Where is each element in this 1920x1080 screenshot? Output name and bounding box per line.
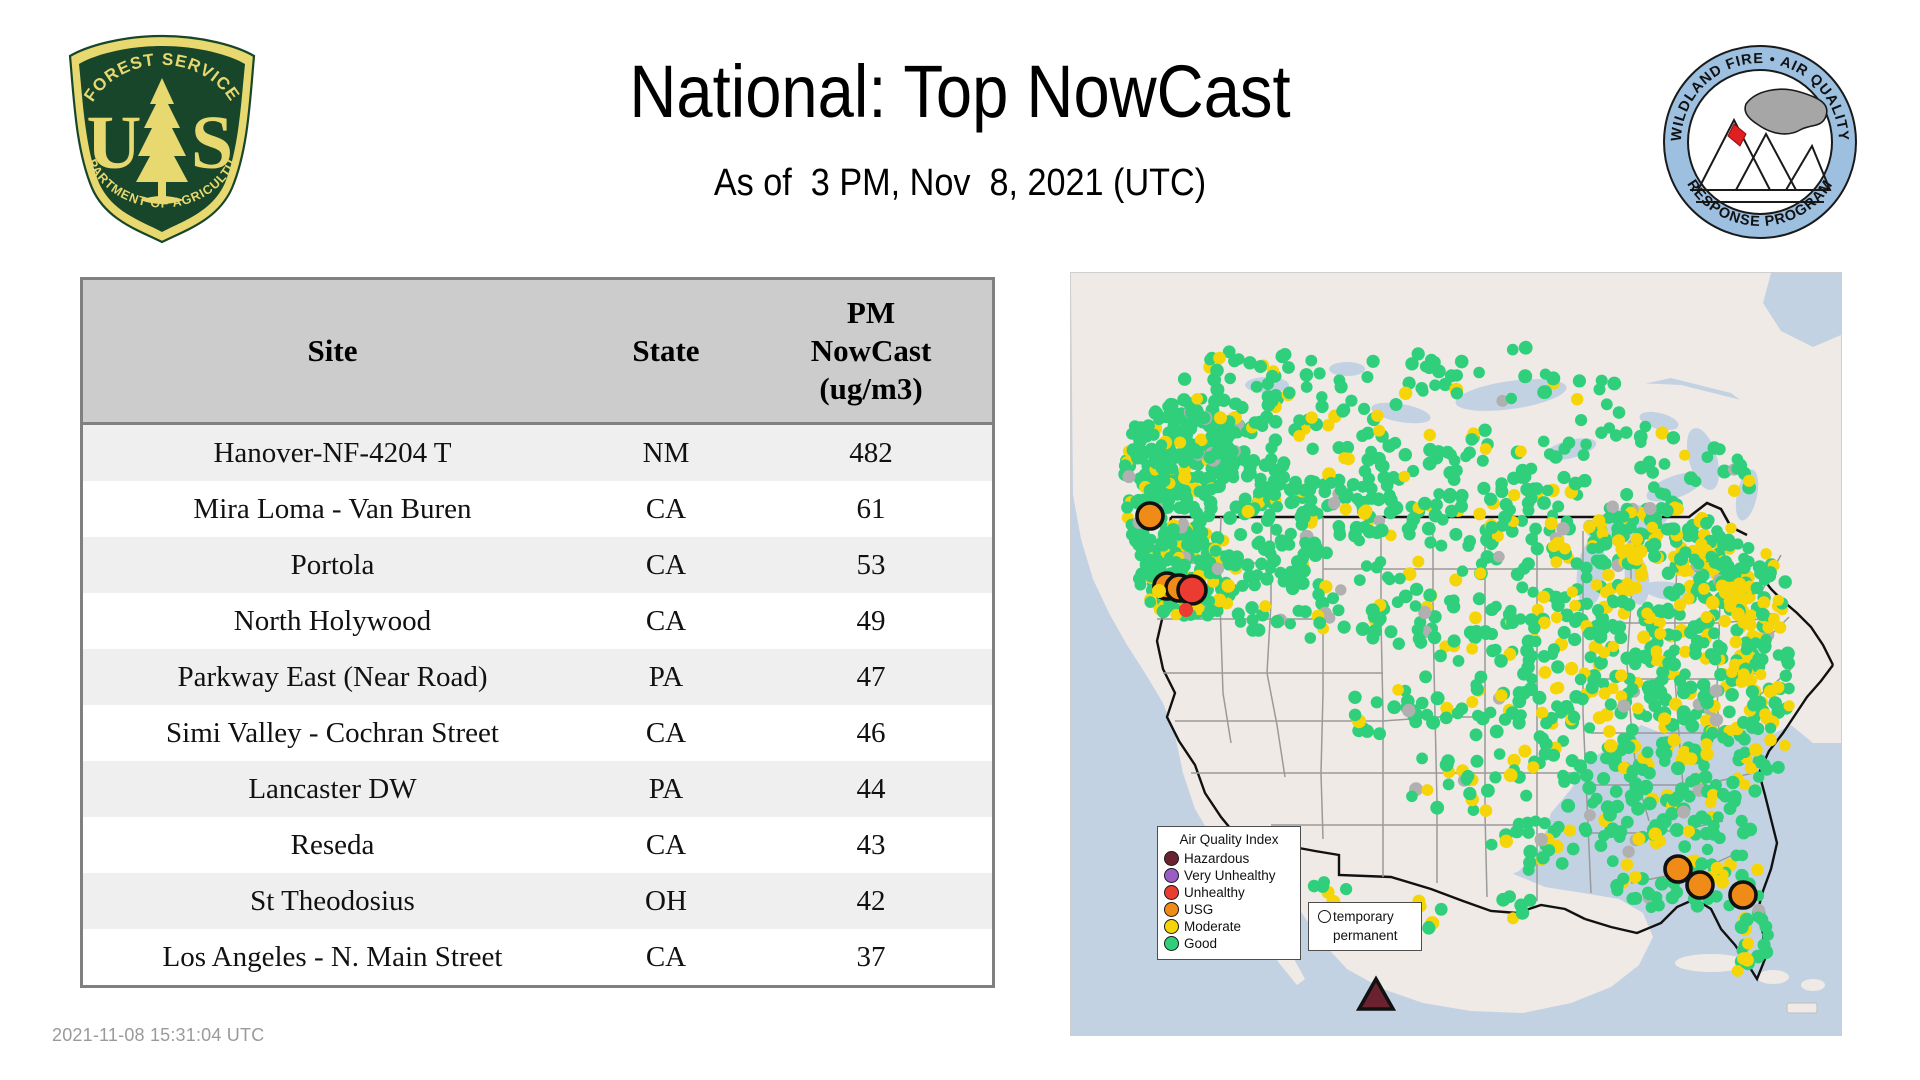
station-dot[interactable] — [1348, 691, 1361, 704]
station-dot[interactable] — [1477, 455, 1489, 467]
station-dot[interactable] — [1316, 400, 1329, 413]
station-dot[interactable] — [1700, 517, 1713, 530]
station-dot[interactable] — [1522, 557, 1535, 570]
station-dot[interactable] — [1285, 528, 1297, 540]
station-dot[interactable] — [1232, 607, 1245, 620]
station-dot[interactable] — [1394, 573, 1406, 585]
station-dot[interactable] — [1659, 488, 1671, 500]
station-dot[interactable] — [1734, 749, 1745, 760]
station-dot[interactable] — [1484, 493, 1497, 506]
station-dot[interactable] — [1523, 845, 1537, 859]
station-dot[interactable] — [1539, 747, 1552, 760]
station-dot[interactable] — [1194, 471, 1205, 482]
station-dot[interactable] — [1564, 825, 1576, 837]
station-dot[interactable] — [1742, 938, 1754, 950]
station-dot[interactable] — [1282, 361, 1295, 374]
station-dot[interactable] — [1716, 876, 1729, 889]
station-dot[interactable] — [1468, 804, 1480, 816]
station-dot[interactable] — [1310, 542, 1323, 555]
station-dot[interactable] — [1213, 352, 1226, 365]
station-dot[interactable] — [1677, 705, 1691, 719]
station-dot[interactable] — [1258, 542, 1272, 556]
station-dot[interactable] — [1678, 840, 1691, 853]
station-dot[interactable] — [1728, 484, 1741, 497]
station-dot[interactable] — [1354, 535, 1365, 546]
station-dot[interactable] — [1741, 644, 1753, 656]
station-dot[interactable] — [1617, 873, 1629, 885]
station-dot[interactable] — [1305, 632, 1317, 644]
station-dot[interactable] — [1542, 485, 1554, 497]
station-dot[interactable] — [1714, 668, 1727, 681]
station-dot[interactable] — [1293, 430, 1305, 442]
station-dot[interactable] — [1202, 609, 1214, 621]
station-dot[interactable] — [1784, 700, 1795, 711]
station-dot[interactable] — [1181, 423, 1194, 436]
station-dot[interactable] — [1560, 700, 1574, 714]
station-dot[interactable] — [1594, 383, 1606, 395]
station-dot[interactable] — [1356, 430, 1368, 442]
station-dot[interactable] — [1504, 768, 1518, 782]
station-dot[interactable] — [1598, 537, 1612, 551]
station-dot[interactable] — [1584, 751, 1597, 764]
station-dot[interactable] — [1690, 867, 1703, 880]
station-dot[interactable] — [1392, 684, 1404, 696]
station-dot[interactable] — [1245, 601, 1258, 614]
station-dot[interactable] — [1154, 562, 1166, 574]
station-dot[interactable] — [1412, 556, 1424, 568]
station-dot[interactable] — [1527, 761, 1539, 773]
station-dot[interactable] — [1289, 476, 1302, 489]
station-dot[interactable] — [1667, 877, 1680, 890]
station-dot[interactable] — [1471, 683, 1484, 696]
station-dot[interactable] — [1269, 415, 1283, 429]
station-dot[interactable] — [1473, 592, 1486, 605]
station-dot[interactable] — [1626, 793, 1640, 807]
station-dot[interactable] — [1660, 747, 1673, 760]
station-dot[interactable] — [1647, 522, 1658, 533]
station-dot[interactable] — [1621, 858, 1634, 871]
station-dot[interactable] — [1701, 611, 1713, 623]
station-dot[interactable] — [1708, 627, 1720, 639]
station-dot[interactable] — [1455, 500, 1468, 513]
station-dot[interactable] — [1405, 519, 1417, 531]
station-dot[interactable] — [1222, 430, 1235, 443]
station-dot[interactable] — [1313, 617, 1326, 630]
station-dot[interactable] — [1387, 700, 1401, 714]
station-dot[interactable] — [1518, 745, 1531, 758]
station-dot[interactable] — [1305, 494, 1317, 506]
station-dot[interactable] — [1607, 377, 1621, 391]
station-dot[interactable] — [1417, 386, 1428, 397]
station-dot[interactable] — [1328, 497, 1341, 510]
station-dot[interactable] — [1399, 448, 1412, 461]
station-dot[interactable] — [1178, 471, 1191, 484]
station-dot[interactable] — [1726, 667, 1737, 678]
station-dot[interactable] — [1741, 954, 1754, 967]
station-dot[interactable] — [1651, 645, 1663, 657]
station-dot[interactable] — [1524, 894, 1537, 907]
station-dot[interactable] — [1668, 793, 1682, 807]
station-dot[interactable] — [1705, 648, 1717, 660]
station-dot[interactable] — [1122, 470, 1135, 483]
station-dot[interactable] — [1178, 372, 1191, 385]
station-dot[interactable] — [1431, 691, 1445, 705]
station-dot[interactable] — [1519, 341, 1533, 355]
station-dot[interactable] — [1333, 604, 1345, 616]
station-dot[interactable] — [1198, 412, 1211, 425]
station-dot[interactable] — [1409, 716, 1422, 729]
station-dot[interactable] — [1672, 503, 1684, 515]
station-dot[interactable] — [1234, 528, 1247, 541]
station-dot[interactable] — [1546, 371, 1560, 385]
station-dot[interactable] — [1715, 642, 1728, 655]
station-dot[interactable] — [1703, 894, 1714, 905]
station-dot[interactable] — [1662, 567, 1675, 580]
station-dot[interactable] — [1423, 362, 1435, 374]
station-dot[interactable] — [1402, 704, 1415, 717]
station-dot[interactable] — [1758, 759, 1771, 772]
station-dot[interactable] — [1654, 628, 1666, 640]
station-dot[interactable] — [1486, 539, 1498, 551]
station-dot[interactable] — [1557, 471, 1570, 484]
station-dot[interactable] — [1613, 621, 1626, 634]
station-dot[interactable] — [1211, 532, 1224, 545]
station-dot[interactable] — [1626, 683, 1638, 695]
station-dot[interactable] — [1415, 636, 1428, 649]
station-dot[interactable] — [1668, 522, 1681, 535]
station-dot[interactable] — [1674, 599, 1686, 611]
station-dot[interactable] — [1235, 401, 1248, 414]
station-dot[interactable] — [1648, 549, 1661, 562]
air-quality-map[interactable]: Air Quality Index HazardousVery Unhealth… — [1070, 272, 1842, 1036]
station-dot[interactable] — [1271, 615, 1284, 628]
station-dot[interactable] — [1285, 618, 1296, 629]
station-dot[interactable] — [1191, 393, 1203, 405]
station-dot[interactable] — [1204, 496, 1218, 510]
station-dot[interactable] — [1670, 823, 1684, 837]
station-dot[interactable] — [1691, 899, 1704, 912]
station-dot[interactable] — [1327, 592, 1339, 604]
station-dot[interactable] — [1705, 871, 1718, 884]
station-dot[interactable] — [1416, 753, 1428, 765]
station-dot[interactable] — [1745, 762, 1757, 774]
station-dot[interactable] — [1515, 446, 1527, 458]
station-dot[interactable] — [1603, 725, 1616, 738]
station-dot[interactable] — [1516, 464, 1530, 478]
station-dot[interactable] — [1478, 424, 1491, 437]
station-dot[interactable] — [1164, 528, 1176, 540]
station-dot[interactable] — [1489, 771, 1501, 783]
station-dot[interactable] — [1515, 613, 1526, 624]
station-dot[interactable] — [1215, 469, 1227, 481]
station-dot[interactable] — [1550, 556, 1562, 568]
station-dot[interactable] — [1629, 892, 1642, 905]
station-dot[interactable] — [1700, 814, 1711, 825]
station-dot[interactable] — [1602, 569, 1615, 582]
station-dot[interactable] — [1177, 559, 1191, 573]
station-dot[interactable] — [1356, 622, 1370, 636]
station-dot[interactable] — [1423, 921, 1435, 933]
station-dot[interactable] — [1723, 706, 1736, 719]
station-dot[interactable] — [1443, 488, 1456, 501]
station-dot[interactable] — [1607, 855, 1619, 867]
station-dot[interactable] — [1666, 891, 1679, 904]
station-dot[interactable] — [1600, 752, 1612, 764]
station-dot[interactable] — [1520, 644, 1534, 658]
station-dot[interactable] — [1667, 431, 1680, 444]
station-dot[interactable] — [1251, 522, 1263, 534]
station-dot[interactable] — [1359, 465, 1372, 478]
station-dot[interactable] — [1423, 589, 1436, 602]
station-dot[interactable] — [1351, 493, 1363, 505]
station-dot[interactable] — [1206, 429, 1220, 443]
station-dot[interactable] — [1561, 799, 1575, 813]
station-dot[interactable] — [1486, 839, 1498, 851]
station-dot[interactable] — [1262, 378, 1274, 390]
station-dot[interactable] — [1632, 703, 1644, 715]
station-dot[interactable] — [1530, 636, 1541, 647]
station-dot[interactable] — [1194, 486, 1206, 498]
station-dot[interactable] — [1611, 884, 1623, 896]
station-dot[interactable] — [1556, 857, 1569, 870]
station-dot[interactable] — [1537, 591, 1550, 604]
station-dot[interactable] — [1608, 596, 1620, 608]
station-dot[interactable] — [1695, 538, 1707, 550]
station-dot[interactable] — [1460, 451, 1471, 462]
station-dot[interactable] — [1372, 492, 1386, 506]
station-dot[interactable] — [1441, 754, 1454, 767]
station-dot[interactable] — [1145, 596, 1157, 608]
station-dot[interactable] — [1416, 697, 1429, 710]
station-dot[interactable] — [1421, 709, 1433, 721]
station-dot[interactable] — [1522, 685, 1534, 697]
station-dot[interactable] — [1623, 598, 1636, 611]
station-dot[interactable] — [1181, 491, 1193, 503]
station-dot[interactable] — [1578, 449, 1590, 461]
station-dot[interactable] — [1641, 608, 1653, 620]
station-dot[interactable] — [1644, 502, 1657, 515]
station-dot[interactable] — [1139, 469, 1151, 481]
station-dot[interactable] — [1605, 698, 1617, 710]
station-dot[interactable] — [1551, 660, 1564, 673]
station-dot[interactable] — [1706, 596, 1720, 610]
station-dot[interactable] — [1448, 594, 1459, 605]
station-dot[interactable] — [1731, 463, 1743, 475]
station-dot[interactable] — [1760, 634, 1772, 646]
station-dot[interactable] — [1760, 548, 1771, 559]
station-dot[interactable] — [1658, 712, 1671, 725]
station-dot[interactable] — [1710, 684, 1723, 697]
station-dot[interactable] — [1465, 789, 1476, 800]
station-dot[interactable] — [1698, 637, 1709, 648]
station-dot[interactable] — [1659, 458, 1671, 470]
station-dot[interactable] — [1732, 538, 1743, 549]
station-dot[interactable] — [1706, 827, 1720, 841]
station-dot[interactable] — [1615, 669, 1627, 681]
station-dot[interactable] — [1297, 511, 1310, 524]
station-dot[interactable] — [1286, 579, 1300, 593]
station-dot[interactable] — [1366, 603, 1380, 617]
station-dot[interactable] — [1225, 467, 1238, 480]
station-dot[interactable] — [1494, 654, 1508, 668]
station-dot[interactable] — [1424, 536, 1436, 548]
station-dot[interactable] — [1193, 570, 1205, 582]
station-dot[interactable] — [1158, 574, 1169, 585]
station-dot[interactable] — [1253, 487, 1264, 498]
station-dot[interactable] — [1373, 425, 1385, 437]
station-dot[interactable] — [1522, 826, 1535, 839]
station-dot[interactable] — [1148, 429, 1160, 441]
station-dot[interactable] — [1629, 777, 1642, 790]
station-dot[interactable] — [1548, 541, 1560, 553]
station-dot[interactable] — [1358, 403, 1370, 415]
station-dot[interactable] — [1604, 739, 1618, 753]
station-dot[interactable] — [1654, 685, 1668, 699]
station-dot[interactable] — [1349, 709, 1362, 722]
station-dot[interactable] — [1325, 477, 1337, 489]
station-dot[interactable] — [1272, 501, 1283, 512]
station-dot[interactable] — [1508, 489, 1520, 501]
station-dot[interactable] — [1513, 818, 1525, 830]
station-dot[interactable] — [1743, 823, 1757, 837]
station-dot[interactable] — [1530, 816, 1541, 827]
station-dot[interactable] — [1341, 441, 1354, 454]
station-dot[interactable] — [1738, 733, 1751, 746]
station-dot[interactable] — [1582, 781, 1596, 795]
station-dot[interactable] — [1367, 355, 1380, 368]
station-dot[interactable] — [1665, 807, 1678, 820]
station-dot[interactable] — [1521, 661, 1534, 674]
station-dot[interactable] — [1643, 797, 1657, 811]
station-dot[interactable] — [1503, 608, 1517, 622]
station-dot[interactable] — [1433, 488, 1444, 499]
station-dot[interactable] — [1535, 833, 1548, 846]
station-dot[interactable] — [1312, 588, 1324, 600]
station-dot[interactable] — [1719, 615, 1731, 627]
station-dot[interactable] — [1516, 906, 1530, 920]
station-dot[interactable] — [1723, 900, 1735, 912]
station-dot[interactable] — [1133, 573, 1145, 585]
station-dot[interactable] — [1503, 890, 1516, 903]
station-dot[interactable] — [1399, 387, 1412, 400]
station-dot[interactable] — [1190, 506, 1204, 520]
station-dot[interactable] — [1145, 534, 1156, 545]
station-dot[interactable] — [1772, 681, 1785, 694]
station-dot[interactable] — [1251, 381, 1263, 393]
station-dot[interactable] — [1308, 478, 1320, 490]
station-dot[interactable] — [1575, 414, 1587, 426]
station-dot[interactable] — [1698, 583, 1710, 595]
station-dot[interactable] — [1511, 568, 1524, 581]
station-dot[interactable] — [1248, 579, 1261, 592]
station-dot[interactable] — [1632, 832, 1645, 845]
station-dot[interactable] — [1252, 623, 1265, 636]
station-dot[interactable] — [1469, 611, 1482, 624]
station-dot[interactable] — [1265, 442, 1277, 454]
station-dot[interactable] — [1210, 545, 1222, 557]
station-dot[interactable] — [1443, 779, 1455, 791]
station-dot[interactable] — [1241, 470, 1254, 483]
station-dot[interactable] — [1571, 557, 1583, 569]
station-dot[interactable] — [1539, 666, 1552, 679]
station-dot[interactable] — [1456, 702, 1469, 715]
station-dot[interactable] — [1335, 484, 1347, 496]
station-dot[interactable] — [1755, 669, 1766, 680]
station-dot[interactable] — [1156, 439, 1168, 451]
station-dot[interactable] — [1751, 582, 1764, 595]
station-dot[interactable] — [1490, 725, 1504, 739]
station-dot[interactable] — [1733, 578, 1746, 591]
station-dot[interactable] — [1270, 524, 1282, 536]
station-dot[interactable] — [1751, 864, 1763, 876]
station-dot[interactable] — [1552, 501, 1564, 513]
station-dot[interactable] — [1274, 567, 1286, 579]
station-dot[interactable] — [1371, 410, 1383, 422]
station-dot[interactable] — [1375, 556, 1386, 567]
station-dot[interactable] — [1358, 506, 1372, 520]
station-dot[interactable] — [1591, 554, 1603, 566]
station-dot[interactable] — [1559, 543, 1571, 555]
station-dot[interactable] — [1193, 555, 1204, 566]
station-dot[interactable] — [1678, 565, 1690, 577]
station-dot[interactable] — [1350, 521, 1364, 535]
station-dot[interactable] — [1772, 761, 1785, 774]
station-dot[interactable] — [1620, 488, 1633, 501]
station-dot[interactable] — [1453, 655, 1465, 667]
station-dot[interactable] — [1448, 634, 1461, 647]
station-dot[interactable] — [1247, 454, 1260, 467]
station-dot[interactable] — [1740, 913, 1754, 927]
station-dot[interactable] — [1671, 761, 1685, 775]
station-dot[interactable] — [1293, 414, 1305, 426]
station-dot[interactable] — [1765, 723, 1776, 734]
station-dot[interactable] — [1486, 603, 1499, 616]
station-dot[interactable] — [1506, 706, 1520, 720]
station-dot[interactable] — [1399, 471, 1411, 483]
station-dot[interactable] — [1422, 522, 1436, 536]
station-dot[interactable] — [1340, 883, 1352, 895]
station-dot[interactable] — [1224, 373, 1236, 385]
station-dot[interactable] — [1361, 371, 1373, 383]
station-dot[interactable] — [1214, 411, 1227, 424]
station-dot[interactable] — [1440, 712, 1453, 725]
station-dot[interactable] — [1525, 533, 1537, 545]
station-dot[interactable] — [1567, 586, 1578, 597]
station-dot[interactable] — [1127, 443, 1141, 457]
station-dot[interactable] — [1568, 772, 1581, 785]
station-dot[interactable] — [1211, 446, 1225, 460]
station-dot[interactable] — [1549, 591, 1563, 605]
station-dot[interactable] — [1139, 515, 1152, 528]
station-dot[interactable] — [1667, 658, 1681, 672]
station-dot[interactable] — [1547, 649, 1558, 660]
station-dot[interactable] — [1229, 559, 1242, 572]
station-dot[interactable] — [1710, 713, 1723, 726]
station-dot[interactable] — [1551, 612, 1563, 624]
station-dot[interactable] — [1495, 689, 1507, 701]
station-dot[interactable] — [1584, 809, 1596, 821]
station-dot[interactable] — [1556, 522, 1569, 535]
station-dot[interactable] — [1655, 605, 1668, 618]
station-dot[interactable] — [1538, 385, 1552, 399]
station-dot[interactable] — [1466, 643, 1478, 655]
station-dot[interactable] — [1635, 568, 1649, 582]
station-dot[interactable] — [1700, 696, 1714, 710]
station-dot[interactable] — [1371, 696, 1383, 708]
station-dot[interactable] — [1335, 380, 1348, 393]
station-dot[interactable] — [1593, 711, 1606, 724]
station-dot[interactable] — [1668, 734, 1681, 747]
